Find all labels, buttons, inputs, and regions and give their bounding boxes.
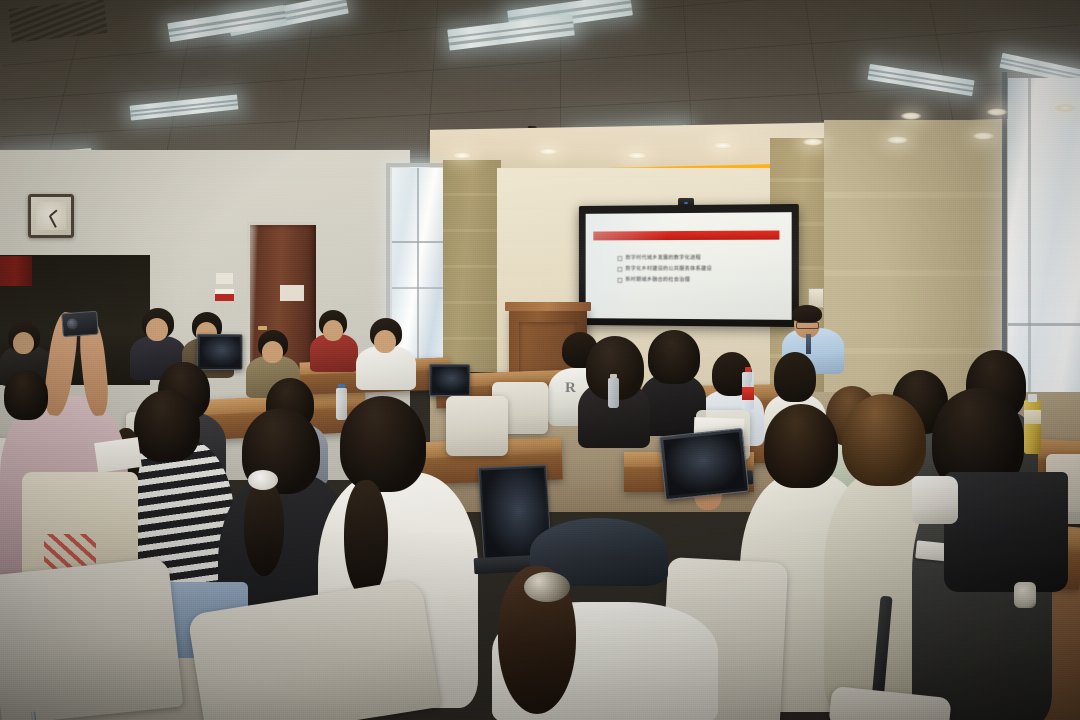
laptop-open[interactable] (429, 364, 470, 396)
stacking-chair[interactable] (0, 557, 183, 720)
camera-lens-icon (684, 202, 688, 204)
downlight (538, 148, 559, 155)
hair-scrunchie (248, 470, 278, 490)
downlight (626, 152, 648, 159)
wood-wall-panel (443, 160, 501, 372)
audience-member (356, 318, 416, 386)
downlight (452, 152, 472, 159)
video-conference-camera-icon (678, 198, 694, 206)
presenter-tie (806, 334, 811, 354)
clock-hand-minute (50, 216, 58, 228)
downlight (712, 142, 734, 149)
bag-charm (1014, 582, 1036, 608)
blackboard-red-trim (0, 256, 32, 286)
bottle-cap (610, 374, 616, 378)
bottle-cap (745, 367, 752, 372)
wall-notice-small (216, 273, 233, 284)
downlight (972, 132, 995, 140)
downlight (802, 138, 824, 146)
wall-sign-red (215, 289, 234, 301)
smartphone-taking-photo[interactable] (61, 311, 99, 337)
screen-glare (586, 212, 696, 320)
door-notice (280, 285, 304, 301)
audience-member (310, 310, 358, 368)
hair-tie-beaded (524, 572, 570, 602)
lectern-top (505, 302, 591, 311)
shoulder-bag[interactable] (944, 472, 1068, 592)
bottle-cap (338, 384, 344, 388)
plastic-bag[interactable] (912, 476, 958, 524)
presenter-glasses-icon (796, 322, 819, 329)
downlight (886, 136, 909, 144)
photograph-seminar-room: 数字时代城乡发展的数字化进程 数字化乡村建设的公共服务体系建设 新时期城乡融合的… (0, 0, 1080, 720)
wall-clock (28, 194, 74, 238)
downlight (900, 112, 922, 120)
flat-panel-display[interactable]: 数字时代城乡发展的数字化进程 数字化乡村建设的公共服务体系建设 新时期城乡融合的… (579, 204, 799, 327)
presenter-hair (792, 305, 822, 323)
downlight-row (430, 130, 1080, 190)
tablet-computer[interactable] (659, 428, 749, 500)
downlight (986, 108, 1008, 116)
audience-member (492, 528, 722, 720)
shirt-letter-r: R (565, 380, 576, 397)
downlight (1055, 104, 1075, 112)
clock-face (36, 202, 66, 231)
bottled-water[interactable] (608, 378, 619, 408)
presentation-slide: 数字时代城乡发展的数字化进程 数字化乡村建设的公共服务体系建设 新时期城乡融合的… (586, 212, 792, 320)
paper-sheet (94, 437, 142, 473)
bottle-label (742, 387, 754, 400)
